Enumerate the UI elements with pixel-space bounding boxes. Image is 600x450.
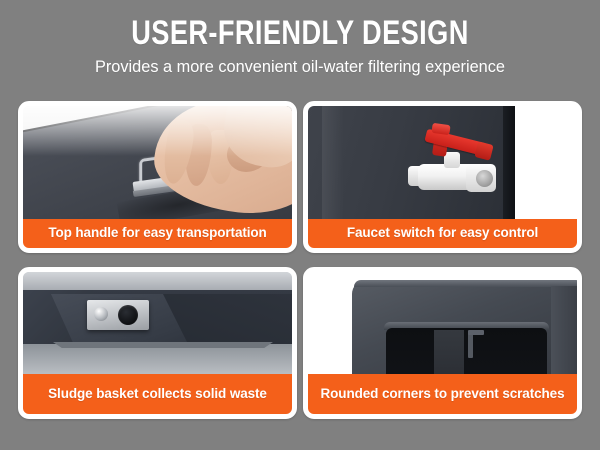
feature-card-rounded-corners[interactable]: Rounded corners to prevent scratches <box>303 267 582 419</box>
card-caption: Rounded corners to prevent scratches <box>308 374 577 414</box>
frame-inner-cavity-shape <box>386 328 547 374</box>
card-caption: Faucet switch for easy control <box>308 219 577 248</box>
panel-seam-shape <box>434 330 464 374</box>
card-caption: Sludge basket collects solid waste <box>23 374 292 414</box>
frame-right-wall-shape <box>551 286 577 374</box>
basin-rim-shape <box>23 272 292 290</box>
frame-top-highlight-shape <box>354 280 577 287</box>
feature-card-grid: Top handle for easy transportation Fauce… <box>18 101 582 438</box>
photo-rounded-corners <box>308 272 577 374</box>
bolt-icon <box>94 307 108 321</box>
wall-highlight-shape <box>322 106 344 219</box>
valve-outlet-hole-shape <box>476 170 493 187</box>
feature-card-sludge-basket[interactable]: Sludge basket collects solid waste <box>18 267 297 419</box>
header: USER-FRIENDLY DESIGN Provides a more con… <box>0 0 600 78</box>
card-caption: Top handle for easy transportation <box>23 219 292 248</box>
photo-sludge-basket <box>23 272 292 374</box>
drain-hole-shape <box>118 305 138 325</box>
wall-edge-shape <box>503 106 515 219</box>
feature-card-faucet-switch[interactable]: Faucet switch for easy control <box>303 101 582 253</box>
page-title: USER-FRIENDLY DESIGN <box>60 14 540 52</box>
basin-floor-edge-shape <box>53 342 273 348</box>
promo-infographic: { "header": { "title": "USER-FRIENDLY DE… <box>0 0 600 450</box>
valve-neck-shape <box>444 152 460 168</box>
photo-faucet-switch <box>308 106 577 219</box>
feature-card-top-handle[interactable]: Top handle for easy transportation <box>18 101 297 253</box>
basin-floor-shape <box>23 344 292 374</box>
page-subtitle: Provides a more convenient oil-water fil… <box>12 56 588 78</box>
photo-top-handle <box>23 106 292 219</box>
latch-shape <box>468 332 473 358</box>
latch-top-shape <box>468 330 484 335</box>
